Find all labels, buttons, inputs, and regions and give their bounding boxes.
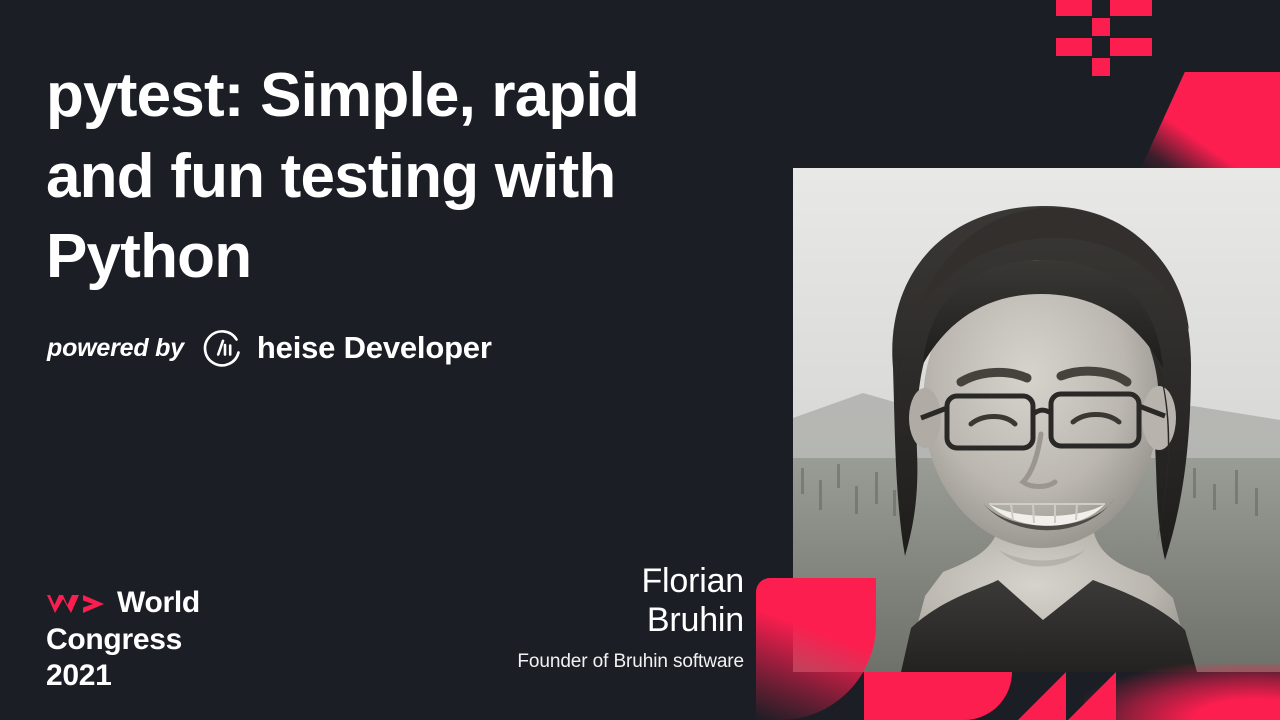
event-logo-year: 2021 xyxy=(46,658,200,695)
accent-triangle-2 xyxy=(1068,672,1116,720)
powered-by-label: powered by xyxy=(47,334,184,363)
event-logo-word-congress: Congress xyxy=(46,622,200,659)
heise-developer-logo: heise Developer xyxy=(202,327,492,369)
powered-by-row: powered by heise Developer xyxy=(47,327,492,369)
event-logo: World Congress 2021 xyxy=(46,585,200,695)
heise-developer-wordmark: heise Developer xyxy=(257,330,492,366)
page-title: pytest: Simple, rapid and fun testing wi… xyxy=(46,56,756,298)
accent-triangle-1 xyxy=(1018,672,1066,720)
event-logo-word-world: World xyxy=(117,585,200,622)
speaker-block: Florian Bruhin Founder of Bruhin softwar… xyxy=(484,562,744,673)
accent-corner-glow xyxy=(1084,664,1280,720)
heise-circle-slash-icon xyxy=(202,327,244,369)
wa-chevron-mark-icon xyxy=(46,591,106,615)
event-logo-line-1: World xyxy=(46,585,200,622)
top-right-parallelogram xyxy=(1140,72,1280,170)
presentation-slide: pytest: Simple, rapid and fun testing wi… xyxy=(0,0,1280,720)
speaker-first-name: Florian xyxy=(484,562,744,601)
speaker-photo xyxy=(793,168,1280,672)
accent-quarter-circle xyxy=(864,672,1012,720)
speaker-role: Founder of Bruhin software xyxy=(484,651,744,673)
speaker-last-name: Bruhin xyxy=(484,601,744,640)
speaker-name: Florian Bruhin xyxy=(484,562,744,641)
top-right-checker-pattern xyxy=(1056,0,1176,72)
